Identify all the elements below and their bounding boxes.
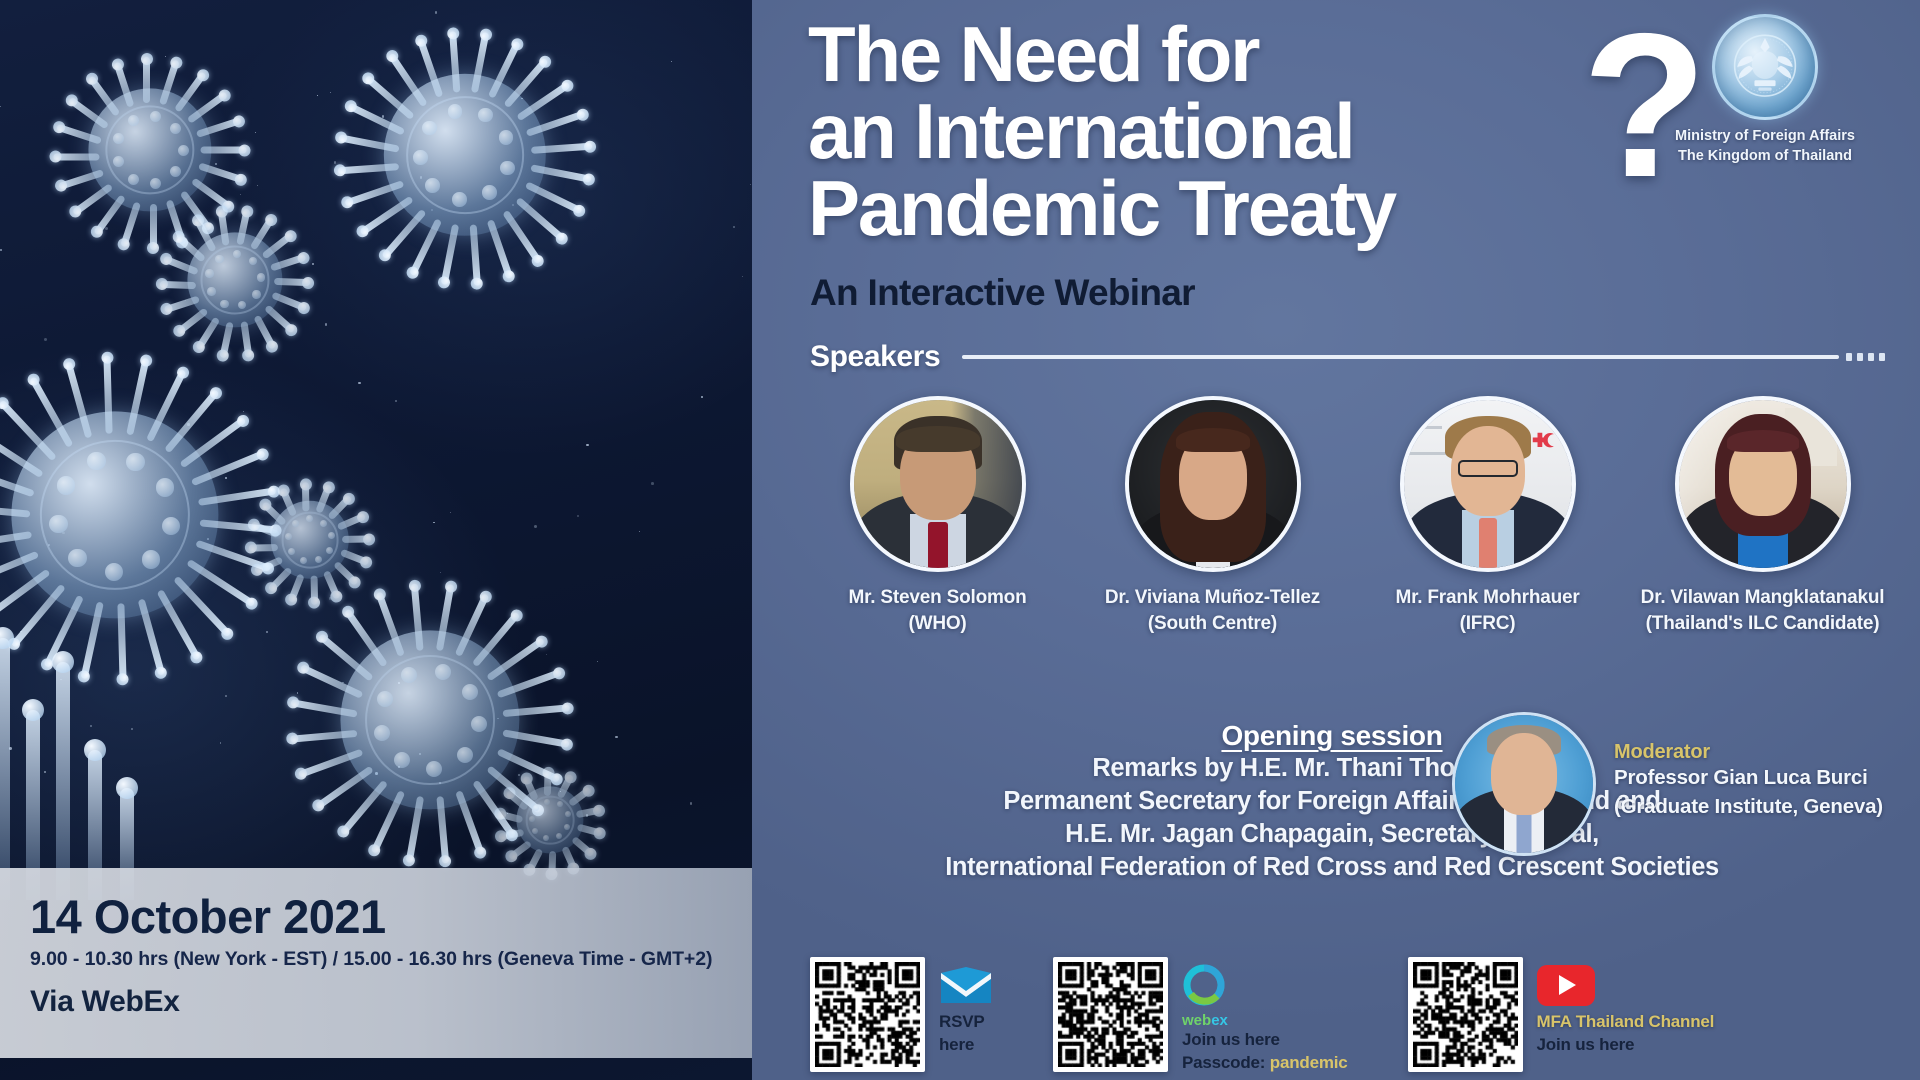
page-title: The Need for an International Pandemic T… (808, 16, 1628, 248)
speaker-avatar-2 (1125, 396, 1301, 572)
right-content-panel: The Need for an International Pandemic T… (752, 0, 1920, 1080)
speaker-card-4: Dr. Vilawan Mangklatanakul (Thailand's I… (1635, 396, 1890, 637)
garuda-glyph (1732, 33, 1798, 99)
event-platform: Via WebEx (30, 985, 752, 1019)
speaker-org-1: (WHO) (810, 611, 1065, 637)
webex-caption-join: Join us here (1182, 1029, 1348, 1051)
envelope-icon (939, 959, 993, 1011)
title-line-2: an International (808, 93, 1628, 170)
speakers-divider (962, 355, 1839, 359)
speakers-divider-dots (1846, 353, 1885, 361)
event-date: 14 October 2021 (30, 892, 752, 941)
rsvp-side: RSVP here (939, 957, 993, 1056)
speaker-avatar-3 (1400, 396, 1576, 572)
speaker-avatar-1 (850, 396, 1026, 572)
webex-wordmark: webex (1182, 1012, 1348, 1029)
youtube-channel-name: MFA Thailand Channel (1537, 1011, 1715, 1033)
webex-wordmark-part-1: web (1182, 1012, 1211, 1029)
webex-wordmark-part-2: ex (1211, 1012, 1228, 1029)
rsvp-caption-line-2: here (939, 1034, 993, 1056)
speaker-card-2: Dr. Viviana Muñoz-Tellez (South Centre) (1085, 396, 1340, 637)
webex-qr-code[interactable] (1053, 957, 1168, 1072)
youtube-qr-code[interactable] (1408, 957, 1523, 1072)
speaker-name-1: Mr. Steven Solomon (810, 585, 1065, 611)
speaker-card-1: Mr. Steven Solomon (WHO) (810, 396, 1065, 637)
left-visual-panel: 14 October 2021 9.00 - 10.30 hrs (New Yo… (0, 0, 752, 1080)
passcode-label: Passcode: (1182, 1053, 1270, 1072)
rsvp-caption-line-1: RSVP (939, 1011, 993, 1033)
webex-qr-item[interactable]: webex Join us here Passcode: pandemic (1053, 957, 1348, 1074)
passcode-value: pandemic (1270, 1053, 1348, 1072)
speakers-header: Speakers (810, 340, 1885, 374)
page-subtitle: An Interactive Webinar (810, 272, 1195, 314)
speaker-org-4: (Thailand's ILC Candidate) (1635, 611, 1890, 637)
title-line-3: Pandemic Treaty (808, 170, 1628, 247)
webinar-poster: 14 October 2021 9.00 - 10.30 hrs (New Yo… (0, 0, 1920, 1080)
rsvp-qr-code[interactable] (810, 957, 925, 1072)
moderator-avatar (1452, 712, 1596, 856)
webex-icon (1182, 959, 1348, 1011)
speaker-name-3: Mr. Frank Mohrhauer (1360, 585, 1615, 611)
moderator-role-label: Moderator (1614, 741, 1883, 764)
qr-links-strip: RSVP here we (810, 957, 1895, 1074)
webex-passcode: Passcode: pandemic (1182, 1052, 1348, 1074)
speaker-name-4: Dr. Vilawan Mangklatanakul (1635, 585, 1890, 611)
rsvp-qr-item[interactable]: RSVP here (810, 957, 993, 1074)
virus-particle (320, 10, 610, 300)
moderator-affiliation: (Graduate Institute, Geneva) (1614, 793, 1883, 822)
virus-particle (490, 760, 610, 880)
youtube-caption-join: Join us here (1537, 1034, 1715, 1056)
speakers-list: Mr. Steven Solomon (WHO) Dr. Viviana Muñ… (810, 396, 1890, 637)
speaker-org-3: (IFRC) (1360, 611, 1615, 637)
speaker-card-3: Mr. Frank Mohrhauer (IFRC) (1360, 396, 1615, 637)
youtube-qr-item[interactable]: MFA Thailand Channel Join us here (1408, 957, 1715, 1074)
webex-side: webex Join us here Passcode: pandemic (1182, 957, 1348, 1074)
tendril-cluster (0, 480, 280, 900)
ministry-name: Ministry of Foreign Affairs The Kingdom … (1650, 127, 1880, 166)
moderator-block: Moderator Professor Gian Luca Burci (Gra… (1452, 712, 1883, 856)
ministry-logo: Ministry of Foreign Affairs The Kingdom … (1650, 14, 1880, 166)
youtube-side: MFA Thailand Channel Join us here (1537, 957, 1715, 1056)
speaker-avatar-4 (1675, 396, 1851, 572)
moderator-name: Professor Gian Luca Burci (1614, 764, 1883, 793)
eyeglasses-icon (1458, 460, 1518, 477)
youtube-icon (1537, 959, 1715, 1011)
mfa-seal-icon (1712, 14, 1818, 120)
ministry-name-line-1: Ministry of Foreign Affairs (1675, 128, 1855, 144)
event-info-band: 14 October 2021 9.00 - 10.30 hrs (New Yo… (0, 868, 752, 1058)
ministry-name-line-2: The Kingdom of Thailand (1678, 148, 1852, 164)
speaker-name-2: Dr. Viviana Muñoz-Tellez (1085, 585, 1340, 611)
event-time: 9.00 - 10.30 hrs (New York - EST) / 15.0… (30, 948, 752, 971)
speakers-label: Speakers (810, 340, 940, 374)
title-line-1: The Need for (808, 16, 1628, 93)
moderator-text: Moderator Professor Gian Luca Burci (Gra… (1614, 741, 1883, 827)
opening-line-4: International Federation of Red Cross an… (812, 851, 1852, 884)
speaker-org-2: (South Centre) (1085, 611, 1340, 637)
